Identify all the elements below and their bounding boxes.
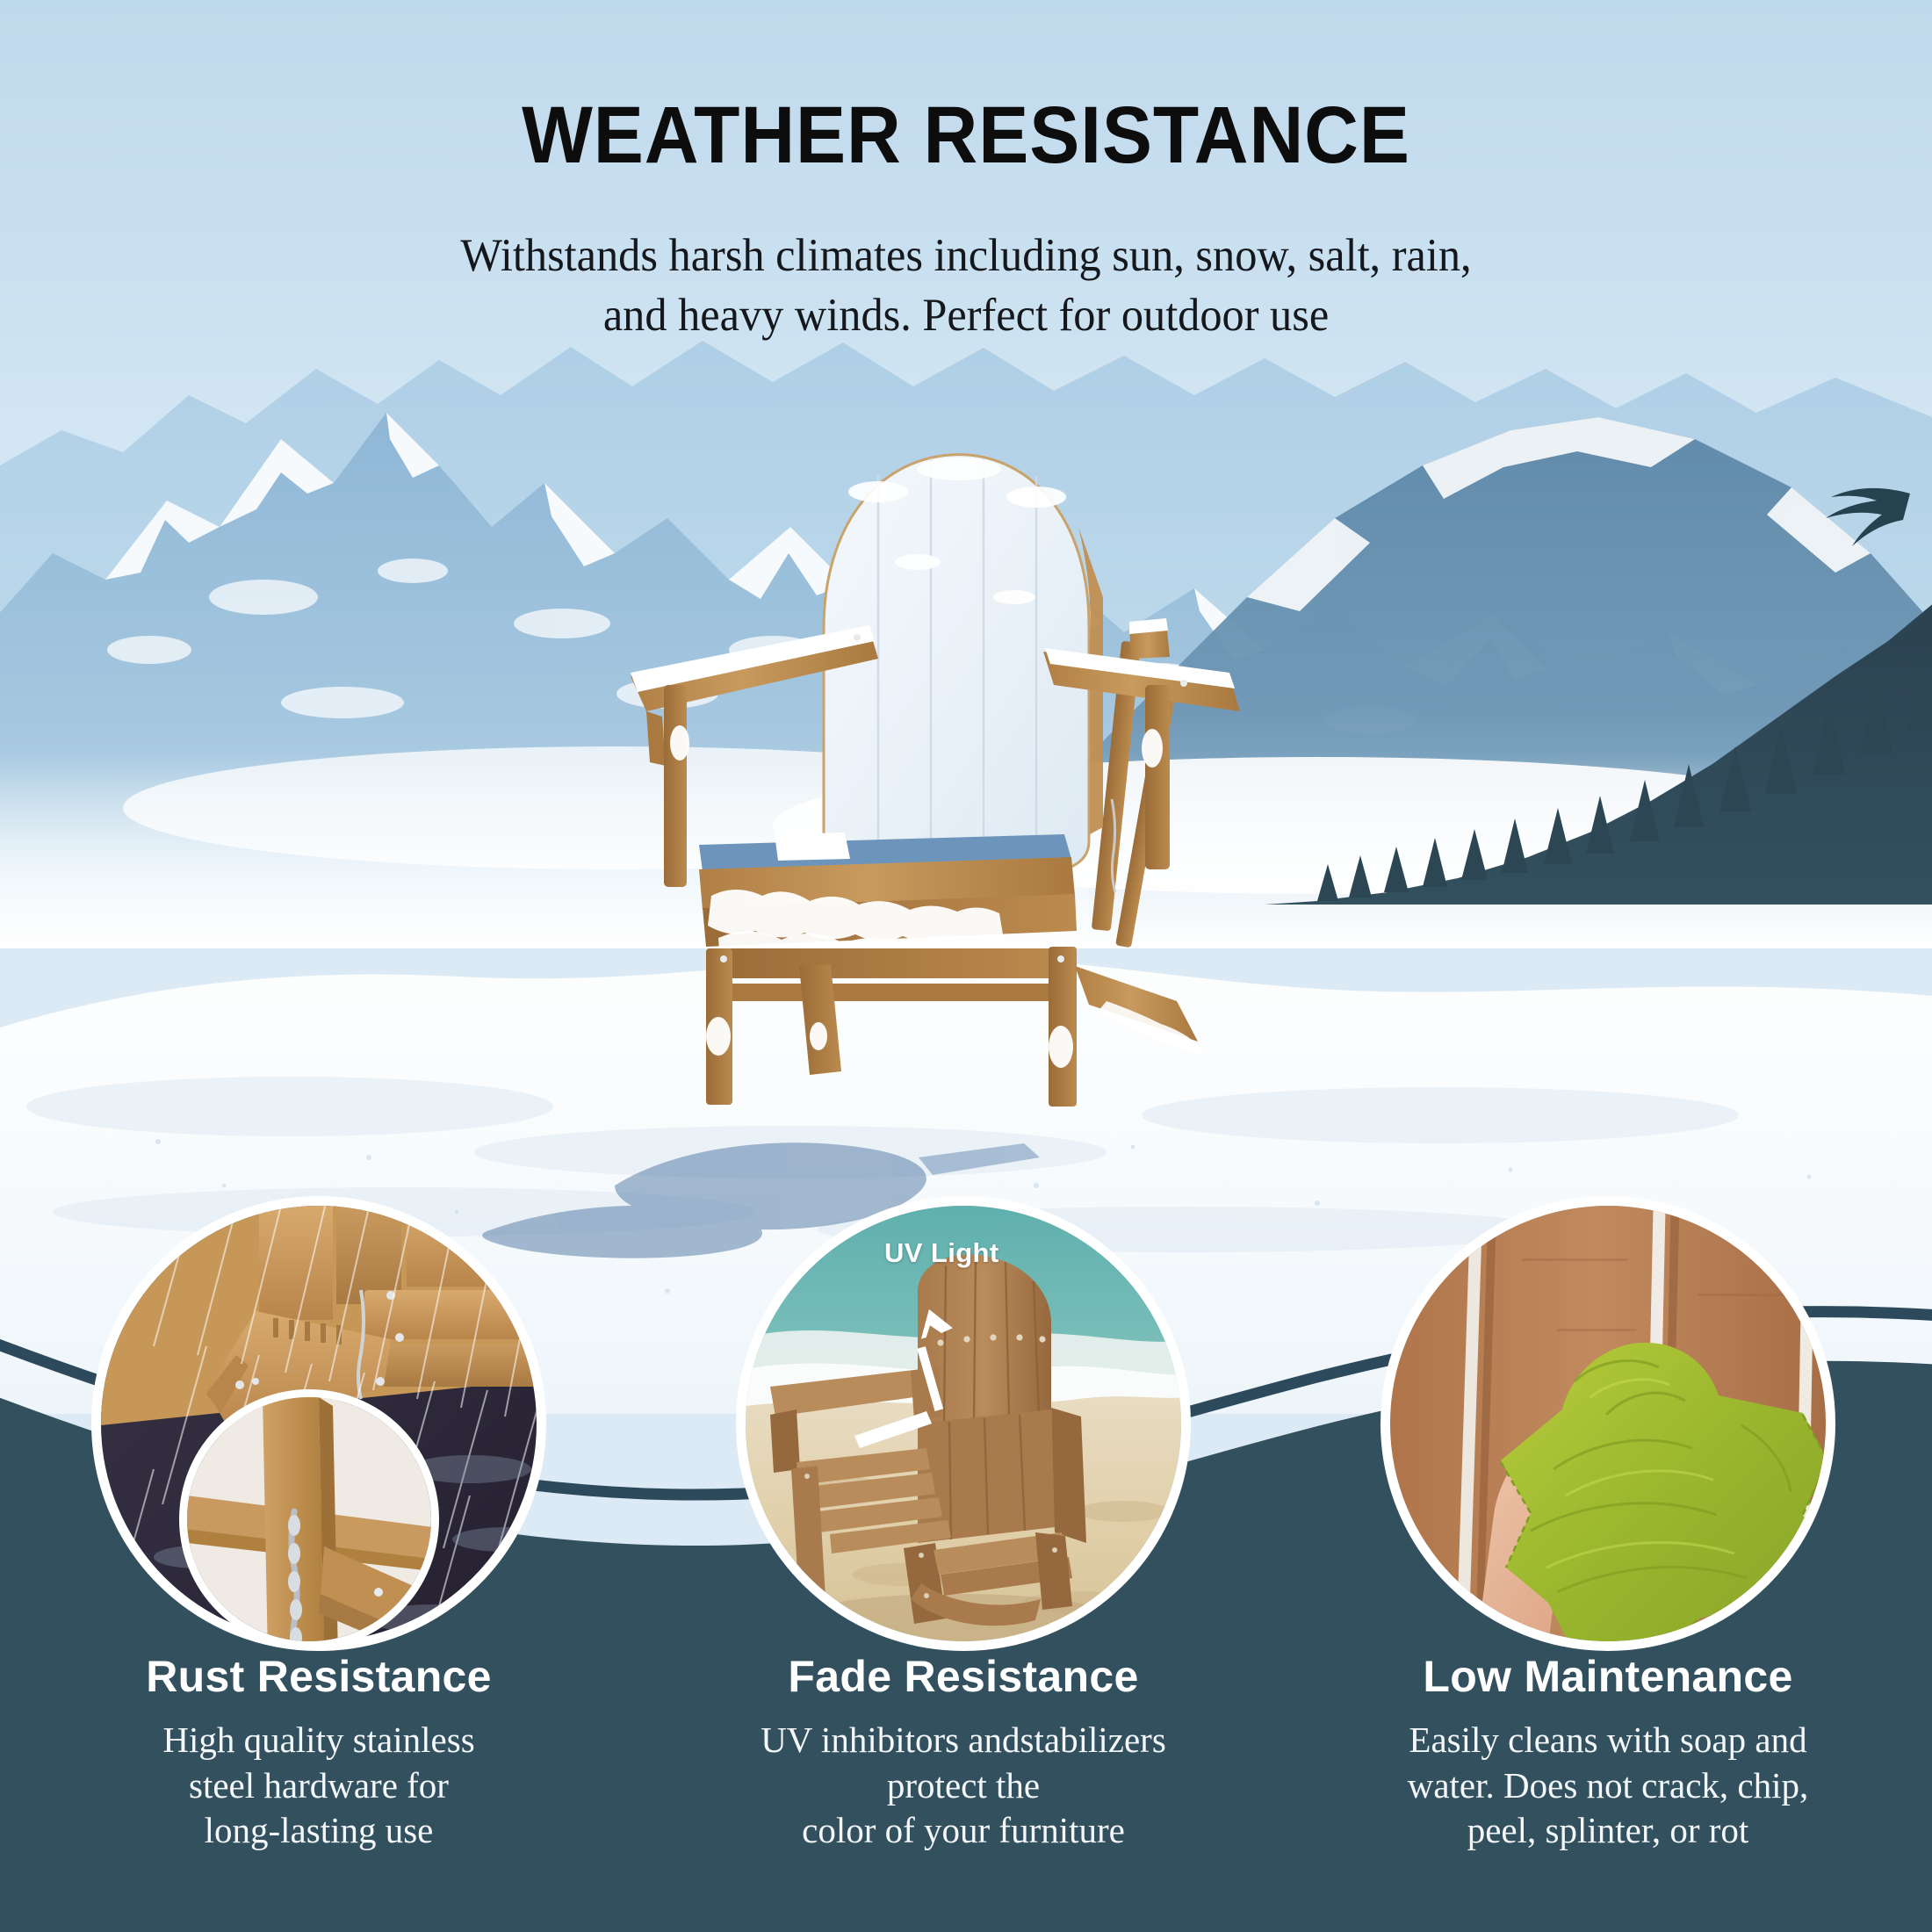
feature-body-rust-resistance: High quality stainless steel hardware fo… <box>49 1718 588 1854</box>
subtitle-line-1: Withstands harsh climates including sun,… <box>48 227 1884 286</box>
uv-light-label: UV Light <box>884 1237 999 1269</box>
feature-heading-rust-resistance: Rust Resistance <box>49 1654 588 1698</box>
subtitle-line-2: and heavy winds. Perfect for outdoor use <box>48 286 1884 346</box>
feature-heading-fade-resistance: Fade Resistance <box>694 1654 1233 1698</box>
page-subtitle: Withstands harsh climates including sun,… <box>48 227 1884 346</box>
feature-body-fade-resistance: UV inhibitors andstabilizers protect the… <box>694 1718 1233 1854</box>
feature-body-line: water. Does not crack, chip, <box>1338 1763 1878 1809</box>
feature-image-fade-resistance: UV Light <box>736 1196 1191 1651</box>
feature-body-line: color of your furniture <box>694 1808 1233 1854</box>
feature-body-line: long-lasting use <box>49 1808 588 1854</box>
infographic-canvas: WEATHER RESISTANCE Withstands harsh clim… <box>0 0 1932 1932</box>
feature-inset-rust-chain <box>179 1389 439 1649</box>
feature-body-line: steel hardware for <box>49 1763 588 1809</box>
feature-body-line: protect the <box>694 1763 1233 1809</box>
feature-body-line: UV inhibitors andstabilizers <box>694 1718 1233 1763</box>
page-title: WEATHER RESISTANCE <box>68 95 1864 176</box>
feature-body-line: Easily cleans with soap and <box>1338 1718 1878 1763</box>
feature-body-line: High quality stainless <box>49 1718 588 1763</box>
feature-body-low-maintenance: Easily cleans with soap and water. Does … <box>1338 1718 1878 1854</box>
adirondack-chair-snow <box>615 422 1282 1115</box>
feature-image-low-maintenance <box>1381 1196 1835 1651</box>
feature-heading-low-maintenance: Low Maintenance <box>1338 1654 1878 1698</box>
feature-body-line: peel, splinter, or rot <box>1338 1808 1878 1854</box>
